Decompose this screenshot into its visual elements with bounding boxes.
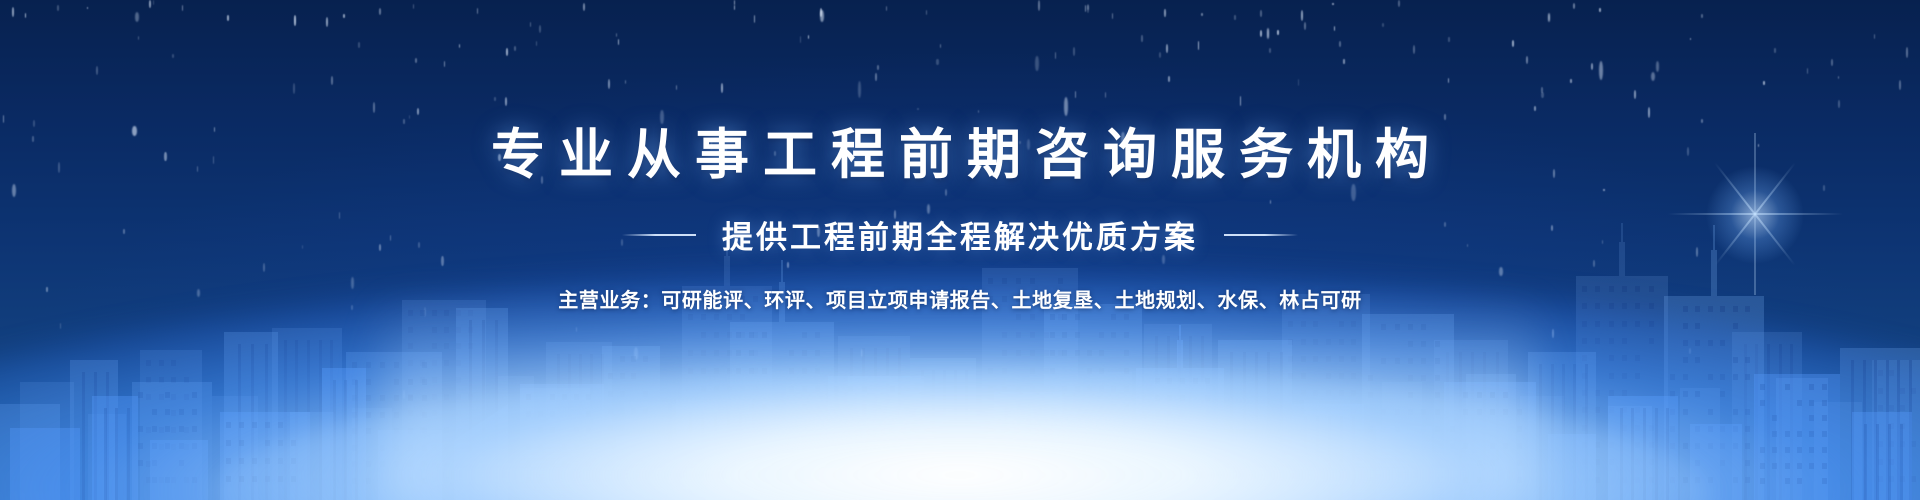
hero-banner: 专业从事工程前期咨询服务机构 提供工程前期全程解决优质方案 主营业务：可研能评、… xyxy=(0,0,1920,500)
banner-business-line: 主营业务：可研能评、环评、项目立项申请报告、土地复垦、土地规划、水保、林占可研 xyxy=(558,284,1361,313)
dash-right-icon xyxy=(1224,234,1298,236)
banner-subtitle-row: 提供工程前期全程解决优质方案 xyxy=(622,212,1298,257)
dash-left-icon xyxy=(622,234,696,236)
banner-subtitle: 提供工程前期全程解决优质方案 xyxy=(722,212,1198,257)
banner-content: 专业从事工程前期咨询服务机构 提供工程前期全程解决优质方案 主营业务：可研能评、… xyxy=(0,0,1920,500)
banner-title: 专业从事工程前期咨询服务机构 xyxy=(477,128,1443,182)
